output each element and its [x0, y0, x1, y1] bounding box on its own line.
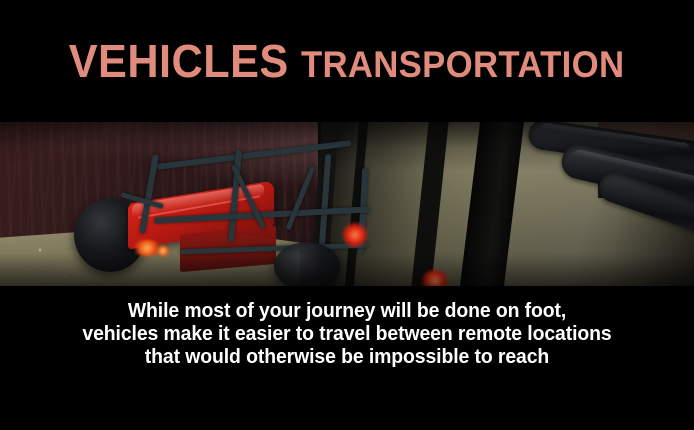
title-band: VEHICLES TRANSPORTATION	[0, 0, 694, 122]
tail-light-glow	[342, 222, 368, 248]
second-vehicle-tail-light	[420, 270, 450, 286]
vehicles-transportation-slide: VEHICLES TRANSPORTATION	[0, 0, 694, 430]
caption-block: While most of your journey will be done …	[0, 300, 694, 369]
roll-cage-rear-post	[319, 154, 332, 250]
page-title-secondary: TRANSPORTATION	[301, 46, 624, 83]
page-title-primary: VEHICLES	[69, 38, 289, 84]
vehicle-photo	[0, 122, 694, 286]
caption-line-3: that would otherwise be impossible to re…	[10, 346, 683, 369]
brake-light-glow-2	[156, 246, 170, 256]
roll-cage-diagonal-2	[285, 166, 315, 231]
title-line: VEHICLES TRANSPORTATION	[69, 38, 625, 84]
caption-line-2: vehicles make it easier to travel betwee…	[10, 323, 683, 346]
caption-line-1: While most of your journey will be done …	[10, 300, 683, 323]
rock-crawler-buggy	[60, 146, 390, 286]
rear-tire	[274, 242, 340, 286]
